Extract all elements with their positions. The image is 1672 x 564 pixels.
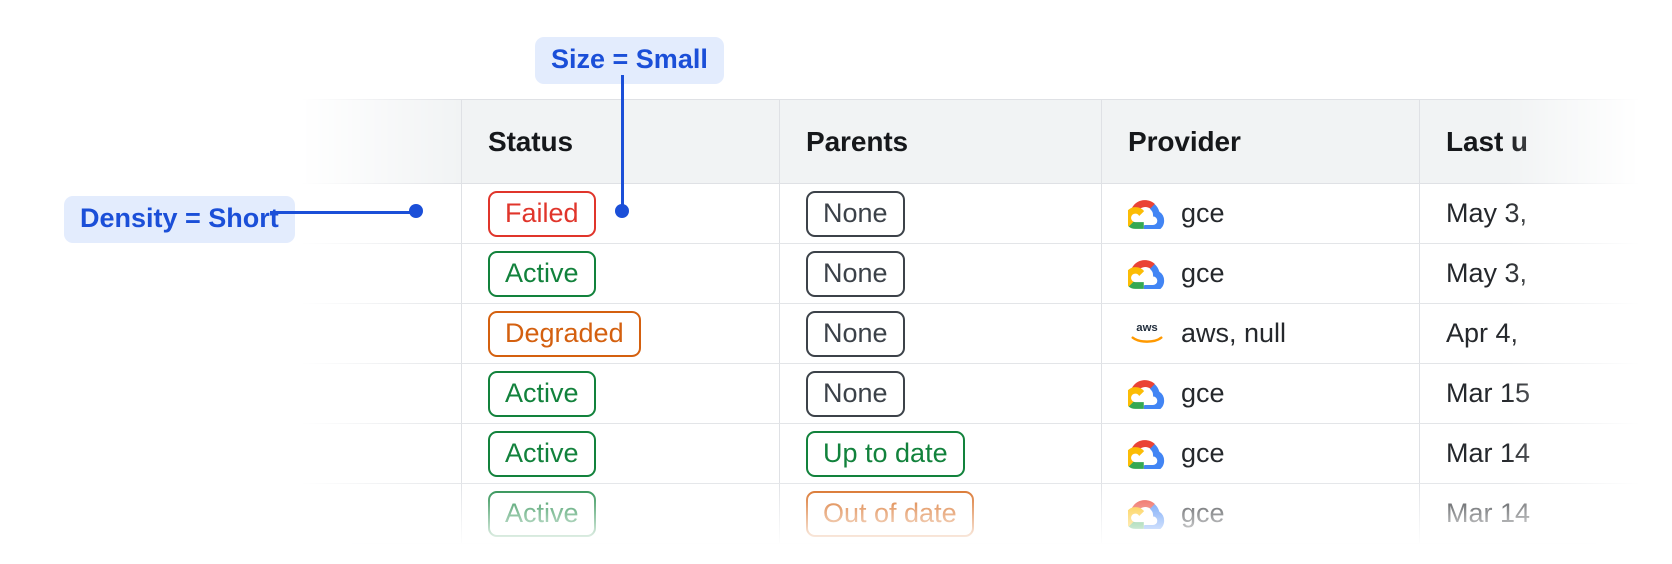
column-header-provider[interactable]: Provider [1102, 99, 1420, 184]
provider-label: gce [1181, 498, 1225, 529]
cell-last-updated: Apr 4, [1420, 304, 1672, 364]
cell-last-updated: Mar 14 [1420, 424, 1672, 484]
cell-last-updated: Mar 14 [1420, 484, 1672, 544]
provider-label: gce [1181, 438, 1225, 469]
status-cell: Active [462, 484, 780, 544]
column-header-last-updated[interactable]: Last u [1420, 99, 1672, 184]
cell-last-updated: May 3, [1420, 184, 1672, 244]
cell-location [0, 364, 462, 424]
cell-location [0, 424, 462, 484]
provider-content: gce [1128, 438, 1419, 469]
table-header-row: tion Status Parents Provider Last u [0, 99, 1672, 184]
parents-badge[interactable]: None [806, 371, 905, 417]
cell-location [0, 244, 462, 304]
parents-cell: None [780, 304, 1102, 364]
cell-provider: gce [1102, 484, 1420, 544]
column-header-parents[interactable]: Parents [780, 99, 1102, 184]
parents-badge[interactable]: Out of date [806, 491, 974, 537]
provider-label: gce [1181, 258, 1225, 289]
cell-provider: awsaws, null [1102, 304, 1420, 364]
parents-cell: None [780, 244, 1102, 304]
cell-provider: gce [1102, 424, 1420, 484]
annotation-label-density: Density = Short [64, 196, 295, 243]
parents-cell: None [780, 184, 1102, 244]
status-badge[interactable]: Active [488, 251, 596, 297]
gcp-cloud-icon [1128, 199, 1166, 229]
provider-label: aws, null [1181, 318, 1286, 349]
gcp-cloud-icon [1128, 499, 1166, 529]
parents-cell: Out of date [780, 484, 1102, 544]
cell-provider: gce [1102, 244, 1420, 304]
provider-content: gce [1128, 198, 1419, 229]
column-header-location[interactable]: tion [0, 99, 462, 184]
gcp-cloud-icon [1128, 379, 1166, 409]
cell-last-updated: Mar 15 [1420, 364, 1672, 424]
status-badge[interactable]: Active [488, 491, 596, 537]
status-cell: Active [462, 424, 780, 484]
cell-location [0, 484, 462, 544]
status-badge[interactable]: Degraded [488, 311, 641, 357]
cell-provider: gce [1102, 364, 1420, 424]
cell-provider: gce [1102, 184, 1420, 244]
aws-icon: aws [1128, 319, 1166, 349]
gcp-cloud-icon [1128, 439, 1166, 469]
annotation-leader-dot-size [615, 204, 629, 218]
provider-content: gce [1128, 258, 1419, 289]
status-cell: Degraded [462, 304, 780, 364]
parents-badge[interactable]: None [806, 251, 905, 297]
status-badge[interactable]: Failed [488, 191, 596, 237]
gcp-cloud-icon [1128, 259, 1166, 289]
table-row[interactable]: DegradedNoneawsaws, nullApr 4, [0, 304, 1672, 364]
data-table: tion Status Parents Provider Last u Fail… [0, 99, 1672, 544]
annotation-leader-dot-density [409, 204, 423, 218]
annotation-leader-line-size [621, 75, 624, 209]
status-cell: Active [462, 244, 780, 304]
provider-label: gce [1181, 198, 1225, 229]
status-badge[interactable]: Active [488, 431, 596, 477]
parents-badge[interactable]: Up to date [806, 431, 965, 477]
data-table-container[interactable]: tion Status Parents Provider Last u Fail… [0, 99, 1672, 564]
cell-last-updated: May 3, [1420, 244, 1672, 304]
screenshot-root: tion Status Parents Provider Last u Fail… [0, 0, 1672, 564]
provider-content: awsaws, null [1128, 318, 1419, 349]
status-cell: Active [462, 364, 780, 424]
provider-label: gce [1181, 378, 1225, 409]
svg-text:aws: aws [1136, 322, 1158, 334]
table-row[interactable]: ActiveNonegceMay 3, [0, 244, 1672, 304]
annotation-label-size: Size = Small [535, 37, 724, 84]
annotation-leader-line-density [270, 211, 418, 214]
cell-location [0, 304, 462, 364]
parents-cell: Up to date [780, 424, 1102, 484]
parents-badge[interactable]: None [806, 311, 905, 357]
parents-badge[interactable]: None [806, 191, 905, 237]
table-row[interactable]: ActiveUp to dategceMar 14 [0, 424, 1672, 484]
table-row[interactable]: ActiveNonegceMar 15 [0, 364, 1672, 424]
status-badge[interactable]: Active [488, 371, 596, 417]
parents-cell: None [780, 364, 1102, 424]
table-row[interactable]: ActiveOut of dategceMar 14 [0, 484, 1672, 544]
provider-content: gce [1128, 498, 1419, 529]
provider-content: gce [1128, 378, 1419, 409]
table-header: tion Status Parents Provider Last u [0, 99, 1672, 184]
